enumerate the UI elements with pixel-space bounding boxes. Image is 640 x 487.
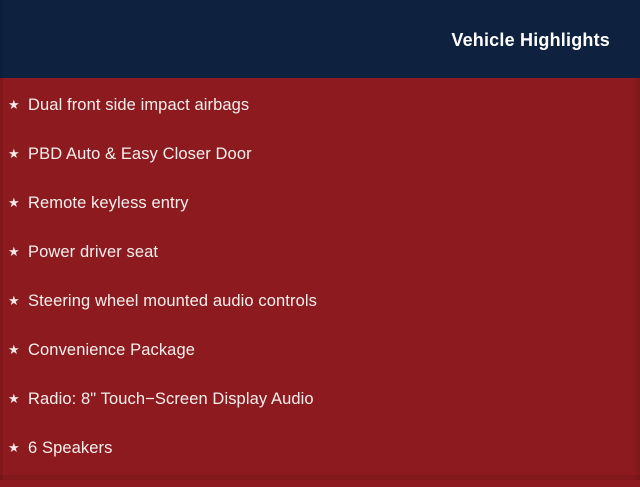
feature-label: Convenience Package	[28, 340, 195, 360]
vehicle-highlights-slide: Vehicle Highlights ★ Dual front side imp…	[0, 0, 640, 480]
star-bullet-icon: ★	[8, 144, 28, 164]
feature-label: Dual front side impact airbags	[28, 95, 249, 115]
star-bullet-icon: ★	[8, 291, 28, 311]
feature-label: Remote keyless entry	[28, 193, 189, 213]
list-item: ★ Remote keyless entry	[0, 193, 640, 242]
list-item: ★ Dual front side impact airbags	[0, 95, 640, 144]
list-item: ★ Convenience Package	[0, 340, 640, 389]
list-item: ★ Steering wheel mounted audio controls	[0, 291, 640, 340]
feature-label: PBD Auto & Easy Closer Door	[28, 144, 252, 164]
header-bar: Vehicle Highlights	[0, 0, 640, 78]
feature-label: 6 Speakers	[28, 438, 112, 458]
star-bullet-icon: ★	[8, 242, 28, 262]
star-bullet-icon: ★	[8, 95, 28, 115]
star-bullet-icon: ★	[8, 389, 28, 409]
list-item: ★ PBD Auto & Easy Closer Door	[0, 144, 640, 193]
star-bullet-icon: ★	[8, 438, 28, 458]
vehicle-features-list: ★ Dual front side impact airbags ★ PBD A…	[0, 95, 640, 487]
star-bullet-icon: ★	[8, 340, 28, 360]
feature-label: Steering wheel mounted audio controls	[28, 291, 317, 311]
feature-label: Power driver seat	[28, 242, 158, 262]
feature-label: Radio: 8" Touch−Screen Display Audio	[28, 389, 314, 409]
list-item: ★ Radio: 8" Touch−Screen Display Audio	[0, 389, 640, 438]
star-bullet-icon: ★	[8, 193, 28, 213]
list-item: ★ Power driver seat	[0, 242, 640, 291]
highlights-panel: ★ Dual front side impact airbags ★ PBD A…	[0, 78, 640, 480]
page-title: Vehicle Highlights	[451, 31, 610, 49]
